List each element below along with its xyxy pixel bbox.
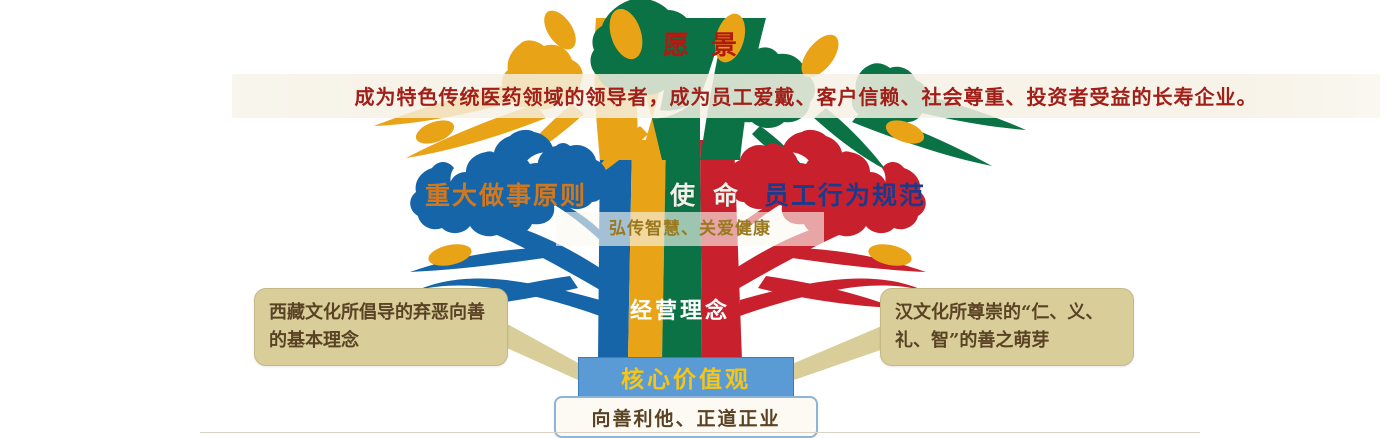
core-values-box: 核心价值观 bbox=[578, 357, 794, 397]
vision-statement: 成为特色传统医药领域的领导者，成为员工爱戴、客户信赖、社会尊重、投资者受益的长寿… bbox=[232, 78, 1380, 116]
label-major-principles: 重大做事原则 bbox=[425, 176, 587, 212]
core-values-title: 核心价值观 bbox=[621, 360, 751, 394]
mission-statement: 弘传智慧、关爱健康 bbox=[556, 214, 824, 244]
core-values-motto: 向善利他、正道正业 bbox=[591, 404, 780, 431]
callout-right-text: 汉文化所尊崇的“仁、义、礼、智”的善之萌芽 bbox=[895, 299, 1119, 355]
callout-tibetan-culture: 西藏文化所倡导的弃恶向善的基本理念 bbox=[254, 288, 508, 366]
label-employee-conduct: 员工行为规范 bbox=[764, 176, 926, 212]
label-business-philosophy: 经营理念 bbox=[630, 293, 730, 325]
baseline-divider bbox=[200, 432, 1200, 433]
callout-han-culture: 汉文化所尊崇的“仁、义、礼、智”的善之萌芽 bbox=[880, 288, 1134, 366]
label-mission-title: 使命 bbox=[670, 176, 756, 212]
trunk-stripes bbox=[598, 140, 742, 360]
culture-tree-diagram: 成为特色传统医药领域的领导者，成为员工爱戴、客户信赖、社会尊重、投资者受益的长寿… bbox=[0, 0, 1400, 438]
callout-left-text: 西藏文化所倡导的弃恶向善的基本理念 bbox=[269, 299, 493, 355]
label-vision: 愿景 bbox=[620, 25, 780, 62]
